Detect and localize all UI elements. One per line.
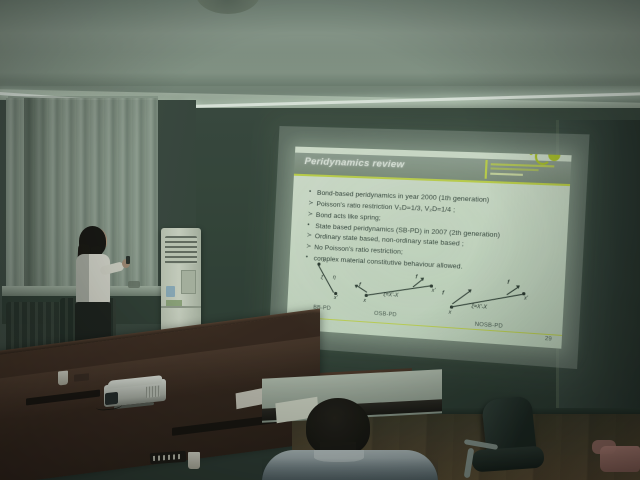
seated-attendee [262,398,438,480]
institution-logo [485,159,565,183]
presenter-blouse-shadow [76,254,89,304]
diagram-node-label: x [323,258,326,264]
diagram-annotation: ξ=X'-X [383,292,398,299]
diagram-annotation: ξ=X'-X [471,304,487,311]
curtain-shadow [24,98,50,288]
slide-page-number: 29 [545,336,552,343]
presentation-clicker[interactable] [126,256,130,264]
ceiling-seam [0,52,640,86]
diagram-annotation: ξ [321,275,324,281]
diagram-annotation: f [442,290,444,296]
air-vent-icon [165,236,197,264]
projected-slide: Peridynamics review • Bond-based peridyn… [286,147,571,349]
paper-cup [188,452,200,469]
chair-seat [471,446,544,473]
diagram-node-label: x' [524,295,528,302]
pink-object [600,446,640,472]
diagram-annotation: f [359,282,361,288]
diagram-annotation: f [507,280,509,286]
paper-cup [58,370,68,385]
projector-vent-icon [146,385,160,397]
diagram-node-label: x' [334,295,338,301]
ac-seam [161,306,201,308]
diagram-annotation: f [415,274,417,280]
diagram-force-arrow [452,290,471,304]
office-chair [462,398,554,480]
logo-text-line-2 [490,167,538,171]
diagram-node-label: x [363,298,366,304]
peridynamics-bond-diagram: x x' ξ η BB-PD f f x x' ξ=X'-X OSB-PD [297,259,557,335]
ac-sticker [166,286,175,297]
diagram-node-label: x [448,309,451,315]
diagram-force-arrow [355,285,367,293]
attendee-shading [262,458,438,480]
diagram-node-label: x' [432,288,436,294]
ac-control-panel[interactable] [181,270,196,294]
screenshot-root: Peridynamics review • Bond-based peridyn… [0,0,640,480]
logo-text-line-3 [490,173,523,177]
logo-bar [485,160,488,179]
diagram-panel-label: OSB-PD [374,311,397,319]
diagram-annotation: η [333,275,336,281]
